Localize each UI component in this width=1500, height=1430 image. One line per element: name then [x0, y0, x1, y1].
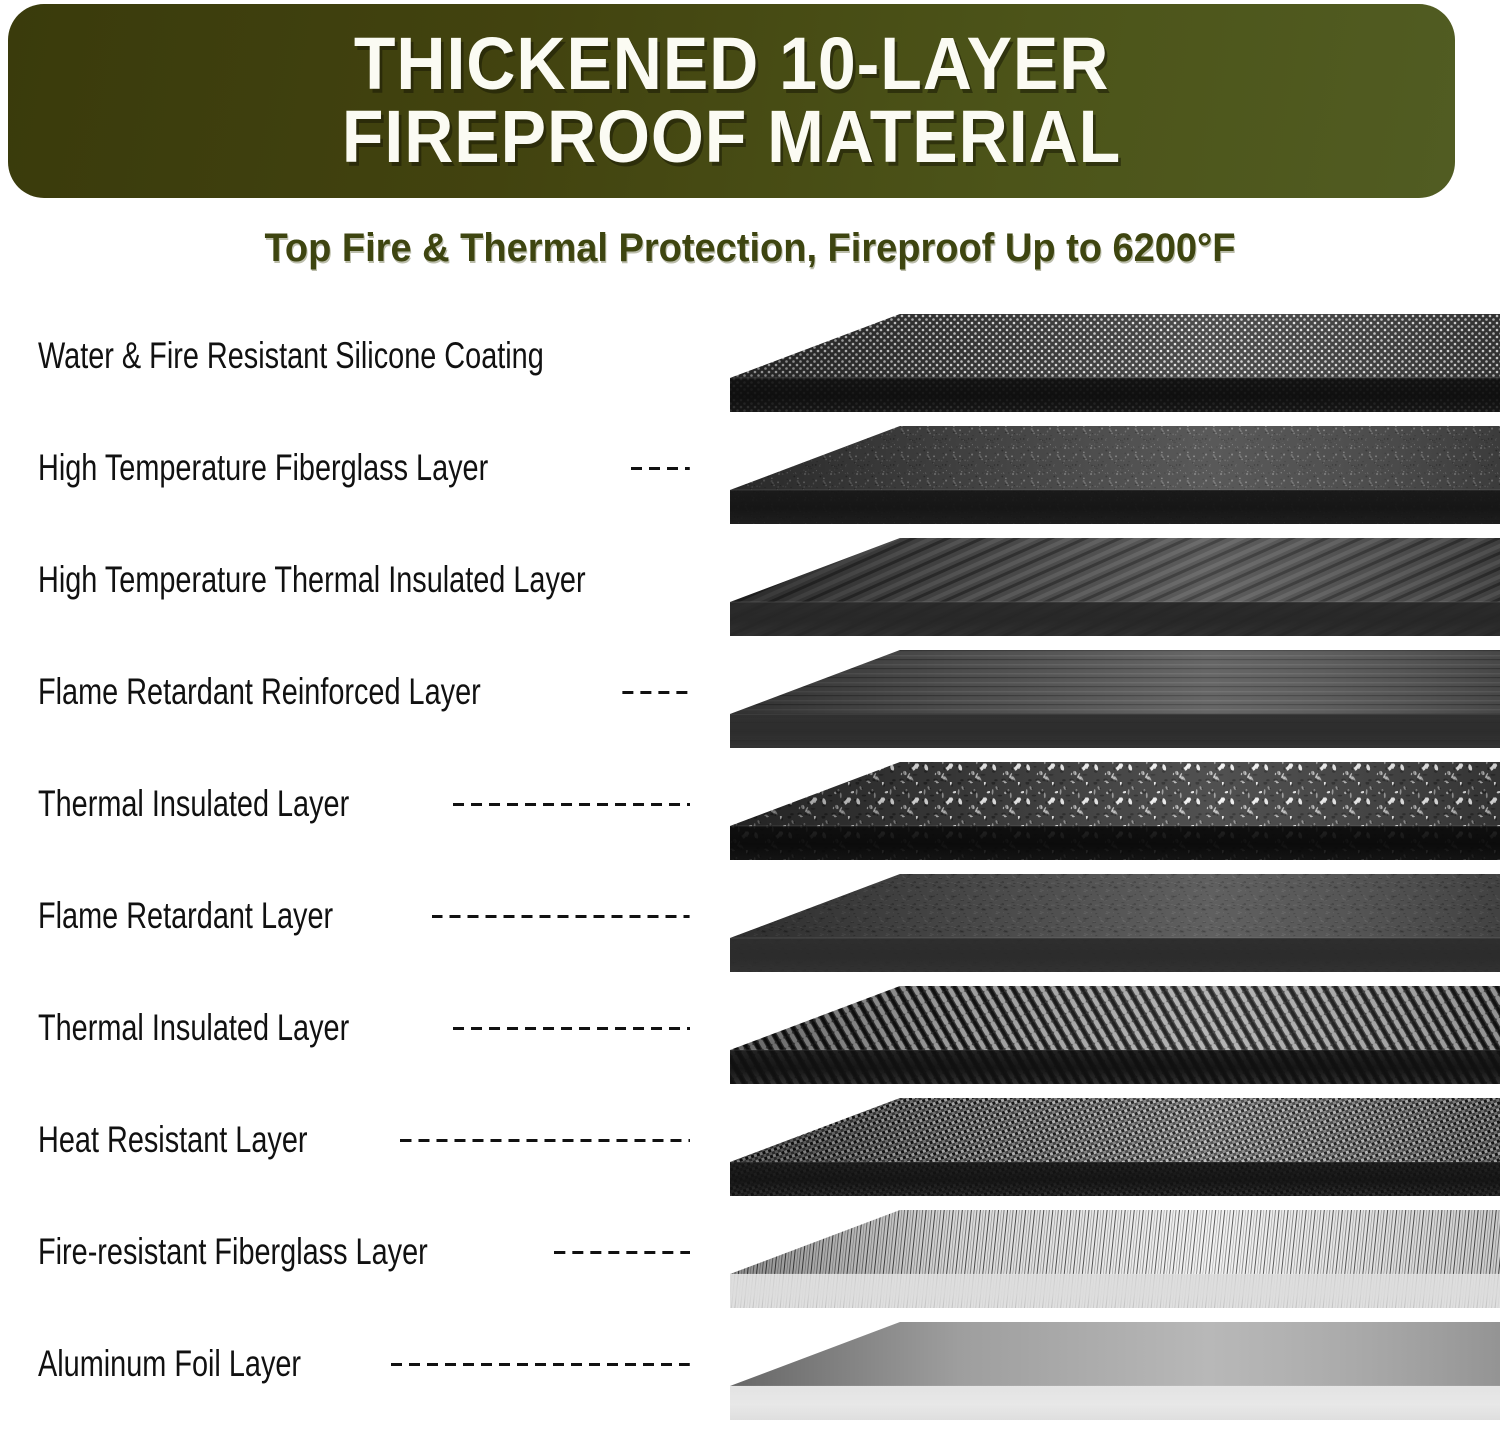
layer-row: Flame Retardant Reinforced Layer: [0, 636, 1500, 748]
leader-dashed-line: [453, 803, 690, 806]
layer-row: Flame Retardant Layer: [0, 860, 1500, 972]
layer-slab: [718, 860, 1500, 982]
layer-label-group: Fire-resistant Fiberglass Layer: [38, 1196, 690, 1308]
layer-label-group: Thermal Insulated Layer: [38, 972, 690, 1084]
layer-slab-illustration: [718, 412, 1500, 534]
layer-label-group: Aluminum Foil Layer: [38, 1308, 690, 1420]
layer-slab-illustration: [718, 300, 1500, 422]
layer-slab: [718, 748, 1500, 870]
leader-dashed-line: [554, 1251, 690, 1254]
leader-dashed-line: [400, 1139, 690, 1142]
layer-row: High Temperature Thermal Insulated Layer: [0, 524, 1500, 636]
layer-label-group: Thermal Insulated Layer: [38, 748, 690, 860]
layer-label-text: Thermal Insulated Layer: [38, 1007, 349, 1049]
layer-label-group: High Temperature Thermal Insulated Layer: [38, 524, 690, 636]
header-title-line-1: THICKENED 10-LAYER: [354, 28, 1110, 101]
layer-row: Water & Fire Resistant Silicone Coating: [0, 300, 1500, 412]
layer-row: Heat Resistant Layer: [0, 1084, 1500, 1196]
layer-label-group: Flame Retardant Layer: [38, 860, 690, 972]
layer-label-text: Heat Resistant Layer: [38, 1119, 308, 1161]
layer-row: Aluminum Foil Layer: [0, 1308, 1500, 1420]
layer-slab-illustration: [718, 860, 1500, 982]
layer-label-text: Flame Retardant Layer: [38, 895, 333, 937]
leader-dashed-line: [622, 691, 690, 694]
layer-slab: [718, 300, 1500, 422]
layer-slab: [718, 1084, 1500, 1206]
layer-label-group: Heat Resistant Layer: [38, 1084, 690, 1196]
layer-row: High Temperature Fiberglass Layer: [0, 412, 1500, 524]
layer-label-text: High Temperature Thermal Insulated Layer: [38, 559, 586, 601]
layer-label-text: Thermal Insulated Layer: [38, 783, 349, 825]
layer-slab: [718, 972, 1500, 1094]
leader-dashed-line: [453, 1027, 690, 1030]
layer-row: Thermal Insulated Layer: [0, 972, 1500, 1084]
layer-label-text: Fire-resistant Fiberglass Layer: [38, 1231, 428, 1273]
leader-dashed-line: [631, 467, 690, 470]
header-banner: THICKENED 10-LAYER FIREPROOF MATERIAL: [8, 4, 1455, 198]
layer-row: Thermal Insulated Layer: [0, 748, 1500, 860]
layer-list: Water & Fire Resistant Silicone CoatingH…: [0, 300, 1500, 1421]
leader-dashed-line: [391, 1363, 690, 1366]
layer-slab-illustration: [718, 1084, 1500, 1206]
header-title-line-2: FIREPROOF MATERIAL: [342, 101, 1121, 174]
layer-slab-illustration: [718, 748, 1500, 870]
layer-slab-illustration: [718, 1308, 1500, 1430]
layer-slab: [718, 1196, 1500, 1318]
layer-label-group: Flame Retardant Reinforced Layer: [38, 636, 690, 748]
layer-slab: [718, 636, 1500, 758]
header-subtitle: Top Fire & Thermal Protection, Fireproof…: [38, 226, 1463, 271]
layer-row: Fire-resistant Fiberglass Layer: [0, 1196, 1500, 1308]
layer-label-text: Flame Retardant Reinforced Layer: [38, 671, 481, 713]
layer-slab: [718, 524, 1500, 646]
layer-label-group: Water & Fire Resistant Silicone Coating: [38, 300, 690, 412]
layer-slab-illustration: [718, 524, 1500, 646]
layer-slab-illustration: [718, 972, 1500, 1094]
leader-dashed-line: [432, 915, 690, 918]
layer-slab-illustration: [718, 1196, 1500, 1318]
layer-label-text: Aluminum Foil Layer: [38, 1343, 301, 1385]
layer-label-group: High Temperature Fiberglass Layer: [38, 412, 690, 524]
layer-slab: [718, 1308, 1500, 1430]
layer-slab-illustration: [718, 636, 1500, 758]
layer-label-text: High Temperature Fiberglass Layer: [38, 447, 488, 489]
layer-slab: [718, 412, 1500, 534]
layer-label-text: Water & Fire Resistant Silicone Coating: [38, 335, 544, 377]
